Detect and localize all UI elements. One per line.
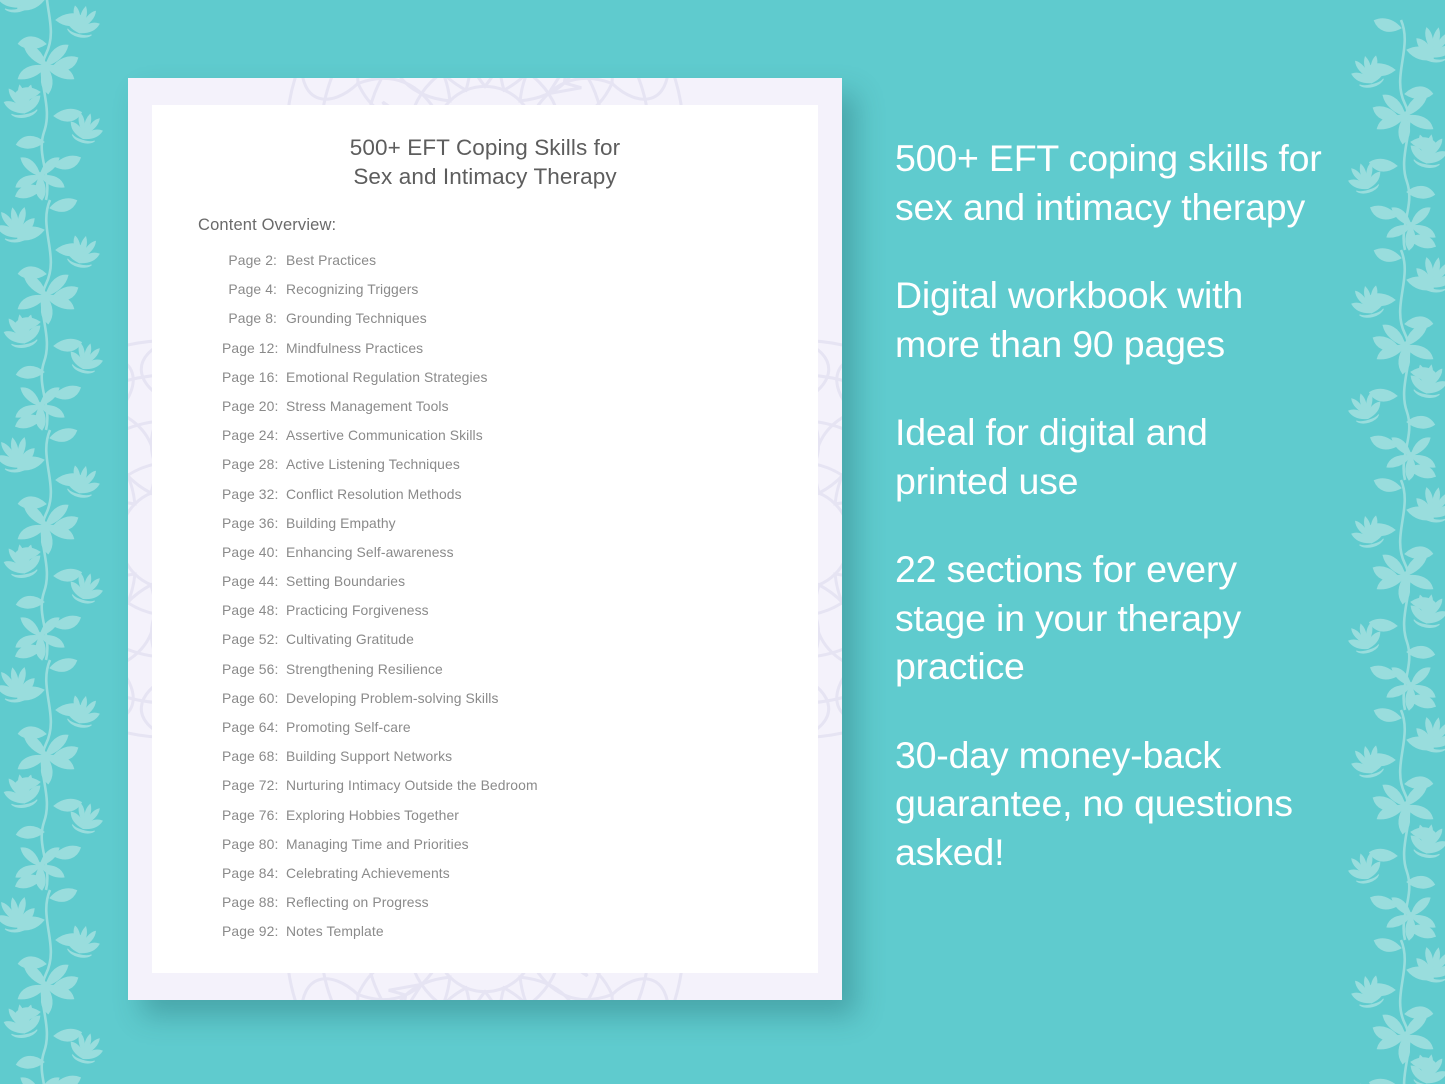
toc-page-number: Page 80: xyxy=(222,836,277,852)
toc-section-title: Conflict Resolution Methods xyxy=(277,486,462,502)
toc-row: Page 16:Emotional Regulation Strategies xyxy=(222,369,804,398)
toc-row: Page 84:Celebrating Achievements xyxy=(222,865,804,894)
workbook-page: 500+ EFT Coping Skills for Sex and Intim… xyxy=(152,105,818,973)
toc-page-number: Page 32: xyxy=(222,486,277,502)
toc-row: Page 92:Notes Template xyxy=(222,923,804,952)
toc-section-title: Stress Management Tools xyxy=(277,398,449,414)
toc-section-title: Notes Template xyxy=(277,923,384,939)
toc-row: Page 72:Nurturing Intimacy Outside the B… xyxy=(222,777,804,806)
toc-page-number: Page 28: xyxy=(222,456,277,472)
toc-page-number: Page 84: xyxy=(222,865,277,881)
toc-page-number: Page 92: xyxy=(222,923,277,939)
toc-row: Page 2:Best Practices xyxy=(222,252,804,281)
toc-page-number: Page 2: xyxy=(222,252,277,268)
toc-section-title: Reflecting on Progress xyxy=(277,894,429,910)
toc-section-title: Grounding Techniques xyxy=(277,310,427,326)
toc-row: Page 20:Stress Management Tools xyxy=(222,398,804,427)
toc-section-title: Setting Boundaries xyxy=(277,573,405,589)
toc-page-number: Page 72: xyxy=(222,777,277,793)
toc-row: Page 24:Assertive Communication Skills xyxy=(222,427,804,456)
toc-row: Page 8:Grounding Techniques xyxy=(222,310,804,339)
toc-row: Page 36:Building Empathy xyxy=(222,515,804,544)
toc-page-number: Page 52: xyxy=(222,631,277,647)
toc-section-title: Best Practices xyxy=(277,252,376,268)
toc-row: Page 76:Exploring Hobbies Together xyxy=(222,807,804,836)
toc-section-title: Cultivating Gratitude xyxy=(277,631,414,647)
toc-page-number: Page 4: xyxy=(222,281,277,297)
toc-page-number: Page 48: xyxy=(222,602,277,618)
toc-page-number: Page 88: xyxy=(222,894,277,910)
toc-section-title: Practicing Forgiveness xyxy=(277,602,429,618)
toc-section-title: Emotional Regulation Strategies xyxy=(277,369,488,385)
toc-section-title: Mindfulness Practices xyxy=(277,340,423,356)
toc-section-title: Nurturing Intimacy Outside the Bedroom xyxy=(277,777,538,793)
toc-page-number: Page 12: xyxy=(222,340,277,356)
workbook-preview-card: 500+ EFT Coping Skills for Sex and Intim… xyxy=(128,78,842,1000)
toc-row: Page 64:Promoting Self-care xyxy=(222,719,804,748)
toc-row: Page 32:Conflict Resolution Methods xyxy=(222,486,804,515)
toc-row: Page 56:Strengthening Resilience xyxy=(222,661,804,690)
floral-vine-icon xyxy=(1309,0,1445,1084)
toc-page-number: Page 20: xyxy=(222,398,277,414)
toc-row: Page 40:Enhancing Self-awareness xyxy=(222,544,804,573)
toc-page-number: Page 8: xyxy=(222,310,277,326)
toc-row: Page 60:Developing Problem-solving Skill… xyxy=(222,690,804,719)
toc-page-number: Page 16: xyxy=(222,369,277,385)
toc-row: Page 68:Building Support Networks xyxy=(222,748,804,777)
toc-page-number: Page 64: xyxy=(222,719,277,735)
toc-page-number: Page 68: xyxy=(222,748,277,764)
table-of-contents: Page 2:Best PracticesPage 4:Recognizing … xyxy=(222,252,804,953)
toc-row: Page 88:Reflecting on Progress xyxy=(222,894,804,923)
toc-section-title: Assertive Communication Skills xyxy=(277,427,483,443)
toc-row: Page 80:Managing Time and Priorities xyxy=(222,836,804,865)
toc-section-title: Strengthening Resilience xyxy=(277,661,443,677)
marketing-bullet: Ideal for digital and printed use xyxy=(895,408,1327,505)
promo-graphic: 500+ EFT Coping Skills for Sex and Intim… xyxy=(0,0,1445,1084)
page-title: 500+ EFT Coping Skills for Sex and Intim… xyxy=(152,133,818,191)
toc-row: Page 12:Mindfulness Practices xyxy=(222,340,804,369)
toc-row: Page 4:Recognizing Triggers xyxy=(222,281,804,310)
toc-page-number: Page 40: xyxy=(222,544,277,560)
toc-section-title: Recognizing Triggers xyxy=(277,281,418,297)
toc-section-title: Enhancing Self-awareness xyxy=(277,544,454,560)
toc-section-title: Building Empathy xyxy=(277,515,396,531)
toc-section-title: Building Support Networks xyxy=(277,748,452,764)
toc-section-title: Active Listening Techniques xyxy=(277,456,460,472)
toc-row: Page 52:Cultivating Gratitude xyxy=(222,631,804,660)
toc-section-title: Exploring Hobbies Together xyxy=(277,807,459,823)
toc-section-title: Promoting Self-care xyxy=(277,719,411,735)
toc-page-number: Page 56: xyxy=(222,661,277,677)
floral-vine-icon xyxy=(0,0,142,1084)
toc-row: Page 28:Active Listening Techniques xyxy=(222,456,804,485)
toc-page-number: Page 44: xyxy=(222,573,277,589)
marketing-bullet: 22 sections for every stage in your ther… xyxy=(895,545,1327,691)
toc-page-number: Page 36: xyxy=(222,515,277,531)
toc-row: Page 48:Practicing Forgiveness xyxy=(222,602,804,631)
marketing-bullet: 500+ EFT coping skills for sex and intim… xyxy=(895,134,1327,231)
content-overview-label: Content Overview: xyxy=(198,216,336,235)
toc-page-number: Page 24: xyxy=(222,427,277,443)
toc-section-title: Developing Problem-solving Skills xyxy=(277,690,499,706)
marketing-bullet-list: 500+ EFT coping skills for sex and intim… xyxy=(895,134,1327,876)
marketing-bullet: 30-day money-back guarantee, no question… xyxy=(895,731,1327,877)
toc-section-title: Managing Time and Priorities xyxy=(277,836,469,852)
toc-row: Page 44:Setting Boundaries xyxy=(222,573,804,602)
marketing-bullet: Digital workbook with more than 90 pages xyxy=(895,271,1327,368)
toc-page-number: Page 76: xyxy=(222,807,277,823)
toc-section-title: Celebrating Achievements xyxy=(277,865,450,881)
toc-page-number: Page 60: xyxy=(222,690,277,706)
